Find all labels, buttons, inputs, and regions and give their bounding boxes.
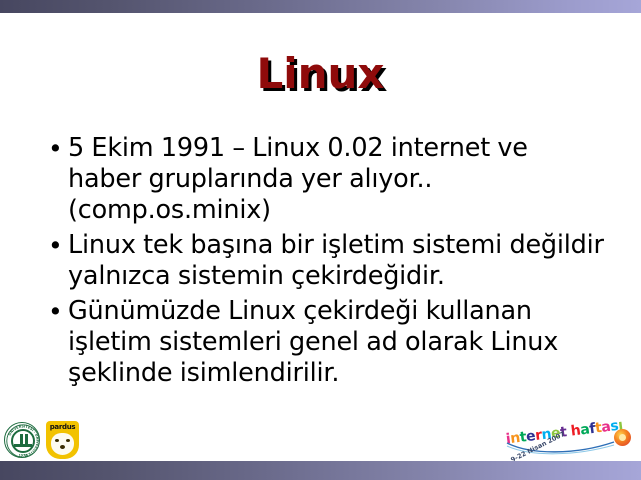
list-item: • 5 Ekim 1991 – Linux 0.02 internet ve h… <box>44 133 604 226</box>
top-gradient-bar <box>0 0 641 13</box>
pardus-wordmark: pardus <box>46 423 79 431</box>
list-item: • Linux tek başına bir işletim sistemi d… <box>44 230 604 292</box>
bullet-text: 5 Ekim 1991 – Linux 0.02 internet ve hab… <box>68 133 604 226</box>
pardus-cat-face-icon <box>51 433 74 455</box>
university-seal-icon: ÜNİVERSİTESİ · ÜNİVERSİTESİ 1973 <box>4 422 40 458</box>
bullet-text: Günümüzde Linux çekirdeği kullanan işlet… <box>68 296 604 389</box>
bullet-icon: • <box>44 230 68 261</box>
internet-haftasi-logo-icon: internet haftası 9-22 Nisan 2007 <box>506 423 631 461</box>
university-seal-base-icon <box>14 444 32 447</box>
presentation-slide: Linux • 5 Ekim 1991 – Linux 0.02 interne… <box>0 0 641 480</box>
footer-left-logos: ÜNİVERSİTESİ · ÜNİVERSİTESİ 1973 pardus <box>4 421 79 459</box>
slide-body: • 5 Ekim 1991 – Linux 0.02 internet ve h… <box>44 133 604 393</box>
page-title: Linux <box>256 52 384 96</box>
pardus-muzzle-icon <box>60 445 65 449</box>
internet-haftasi-badge-icon <box>614 429 631 446</box>
list-item: • Günümüzde Linux çekirdeği kullanan işl… <box>44 296 604 389</box>
bottom-gradient-bar <box>0 461 641 480</box>
slide-title-area: Linux <box>0 52 641 96</box>
svg-text:1973: 1973 <box>19 453 28 457</box>
bullet-icon: • <box>44 296 68 327</box>
bullet-icon: • <box>44 133 68 164</box>
pardus-logo-icon: pardus <box>46 421 79 459</box>
university-seal-emblem-icon <box>11 429 35 453</box>
bullet-text: Linux tek başına bir işletim sistemi değ… <box>68 230 604 292</box>
